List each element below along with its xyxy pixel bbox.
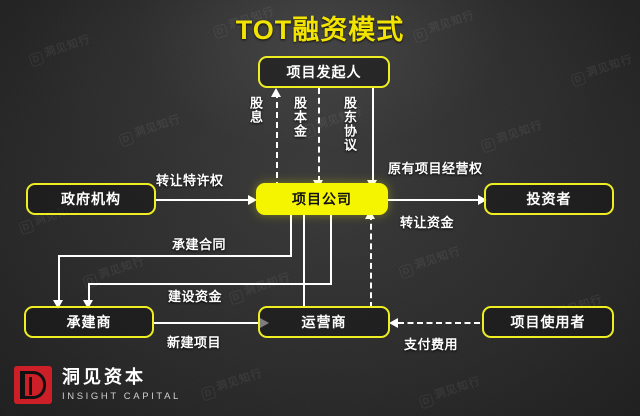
edge-transfer-franchise-line (155, 199, 250, 201)
edge-label-construction-funds: 建设资金 (168, 286, 222, 305)
node-project-initiator-label: 项目发起人 (287, 62, 362, 82)
edge-pay-fees-line (398, 322, 480, 324)
logo-text-block: 洞见资本 INSIGHT CAPITAL (62, 368, 181, 402)
watermark: D洞见知行 (227, 269, 293, 306)
node-project-company[interactable]: 项目公司 (256, 183, 388, 215)
node-contractor[interactable]: 承建商 (24, 306, 154, 338)
node-government-agency[interactable]: 政府机构 (26, 183, 156, 215)
watermark-badge-icon: D (82, 273, 98, 289)
watermark-badge-icon: D (480, 137, 496, 153)
edge-label-new-project: 新建项目 (167, 332, 221, 351)
watermark-badge-icon: D (200, 385, 216, 401)
brand-logo: 洞见资本 INSIGHT CAPITAL (14, 366, 181, 404)
logo-bar-shape (29, 377, 32, 395)
node-investor[interactable]: 投资者 (484, 183, 614, 215)
node-project-company-label: 项目公司 (292, 189, 352, 209)
watermark-text: 洞见知行 (133, 113, 182, 139)
node-project-user[interactable]: 项目使用者 (482, 306, 614, 338)
watermark-badge-icon: D (118, 131, 134, 147)
edge-equity-capital-line (318, 88, 320, 182)
watermark-badge-icon: D (418, 393, 434, 409)
edge-label-dividend: 股息 (246, 96, 265, 124)
edge-pay-fees-arrowhead (389, 318, 398, 328)
node-operator[interactable]: 运营商 (258, 306, 390, 338)
edge-new-project-line (152, 322, 262, 324)
page-title: TOT融资模式 (0, 8, 640, 47)
watermark-badge-icon: D (398, 263, 414, 279)
edge-label-construction-contract: 承建合同 (172, 234, 226, 253)
edge-label-transfer-franchise: 转让特许权 (156, 170, 224, 189)
logo-name-cn: 洞见资本 (62, 368, 181, 388)
watermark-badge-icon: D (28, 51, 44, 67)
edge-shareholder-agreement-line (372, 88, 374, 182)
node-operator-label: 运营商 (302, 312, 347, 332)
watermark-text: 洞见知行 (433, 375, 482, 401)
edge-construction-funds-v1 (330, 212, 332, 284)
watermark-text: 洞见知行 (215, 367, 264, 393)
watermark-text: 洞见知行 (585, 53, 634, 79)
edge-construction-contract-v2 (58, 255, 60, 304)
watermark-text: 洞见知行 (413, 245, 462, 271)
diagram-canvas: D洞见知行 D洞见知行 D洞见知行 D洞见知行 D洞见知行 D洞见知行 D洞见知… (0, 0, 640, 416)
logo-d-shape (20, 371, 46, 399)
logo-mark-icon (14, 366, 52, 404)
watermark: D洞见知行 (117, 111, 183, 148)
logo-name-en: INSIGHT CAPITAL (62, 391, 181, 402)
watermark: D洞见知行 (479, 117, 545, 154)
edge-label-equity-capital: 股本金 (290, 96, 309, 138)
node-investor-label: 投资者 (527, 189, 572, 209)
edge-construction-contract-h (58, 255, 292, 257)
node-project-initiator[interactable]: 项目发起人 (258, 56, 390, 88)
watermark-text: 洞见知行 (97, 255, 146, 281)
edge-label-original-operating-rights: 原有项目经营权 (388, 158, 483, 177)
edge-dividend-line (276, 92, 278, 188)
watermark: D洞见知行 (417, 373, 483, 410)
edge-label-shareholder-agreement: 股东协议 (340, 96, 359, 152)
watermark-badge-icon: D (570, 71, 586, 87)
edge-dividend-arrowhead (271, 88, 281, 97)
edge-label-transfer-funds: 转让资金 (400, 212, 454, 231)
node-contractor-label: 承建商 (67, 312, 112, 332)
edge-construction-funds-h (88, 283, 332, 285)
watermark: D洞见知行 (569, 51, 635, 88)
edge-operator-company-line (370, 214, 372, 308)
watermark-badge-icon: D (18, 219, 34, 235)
node-project-user-label: 项目使用者 (511, 312, 586, 332)
watermark-badge-icon: D (228, 289, 244, 305)
edge-label-pay-fees: 支付费用 (404, 334, 458, 353)
edge-company-operator-line (303, 212, 305, 308)
edge-investor-line (387, 199, 480, 201)
watermark: D洞见知行 (397, 243, 463, 280)
watermark-text: 洞见知行 (495, 119, 544, 145)
node-government-agency-label: 政府机构 (61, 189, 121, 209)
watermark: D洞见知行 (199, 365, 265, 402)
edge-construction-contract-v1 (290, 212, 292, 256)
